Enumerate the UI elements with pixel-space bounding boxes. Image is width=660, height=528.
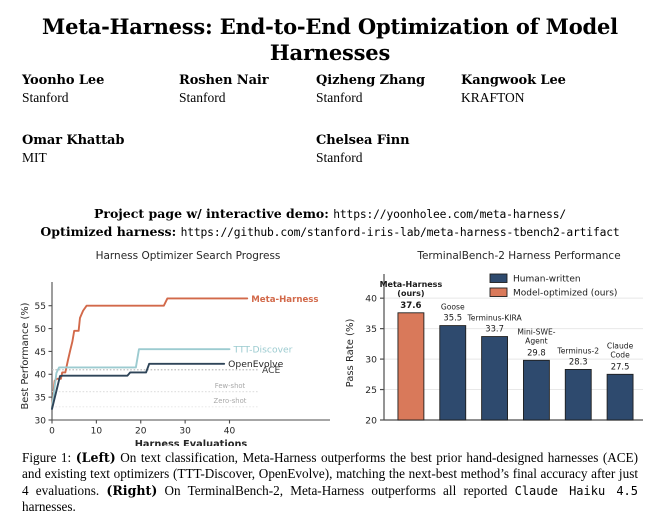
svg-text:Model-optimized (ours): Model-optimized (ours)	[513, 288, 617, 298]
left-chart-title: Harness Optimizer Search Progress	[18, 250, 348, 262]
project-page-separator: :	[324, 206, 333, 221]
author-affiliation: Stanford	[22, 89, 179, 106]
svg-text:10: 10	[91, 427, 103, 437]
svg-text:Pass Rate (%): Pass Rate (%)	[345, 319, 356, 388]
svg-text:33.7: 33.7	[485, 324, 504, 334]
optimized-harness-line: Optimized harness: https://github.com/st…	[0, 223, 660, 241]
author-block-3: Kangwook Lee KRAFTON	[461, 72, 611, 106]
project-page-url[interactable]: https://yoonholee.com/meta-harness/	[333, 208, 566, 221]
svg-text:20: 20	[135, 427, 147, 437]
svg-text:35.5: 35.5	[443, 313, 462, 323]
svg-text:Harness Evaluations: Harness Evaluations	[135, 439, 248, 446]
svg-text:40: 40	[224, 427, 236, 437]
svg-text:Terminus-KIRA: Terminus-KIRA	[466, 314, 522, 323]
svg-text:Goose: Goose	[441, 303, 465, 312]
svg-text:Agent: Agent	[525, 336, 547, 345]
svg-text:Meta-Harness: Meta-Harness	[251, 295, 318, 305]
svg-text:Zero-shot: Zero-shot	[214, 397, 247, 405]
svg-text:Claude: Claude	[607, 341, 634, 350]
author-name: Qizheng Zhang	[316, 72, 461, 89]
terminalbench-2-harness-performance-chart: 2025303540Pass Rate (%)37.6Meta-Harness(…	[338, 264, 656, 446]
svg-text:Meta-Harness: Meta-Harness	[380, 280, 443, 289]
author-name: Kangwook Lee	[461, 72, 611, 89]
svg-text:55: 55	[35, 302, 46, 312]
svg-text:OpenEvolve: OpenEvolve	[228, 359, 283, 370]
svg-text:28.3: 28.3	[569, 356, 588, 366]
svg-text:35: 35	[365, 324, 377, 335]
svg-text:30: 30	[35, 416, 47, 426]
page-title: Meta-Harness: End-to-End Optimization of…	[0, 14, 660, 66]
authors-row-1: Yoonho Lee Stanford Roshen Nair Stanford…	[22, 72, 638, 106]
svg-text:Mini-SWE-: Mini-SWE-	[517, 327, 555, 336]
right-chart-title: TerminalBench-2 Harness Performance	[338, 250, 660, 262]
svg-text:(ours): (ours)	[397, 289, 424, 298]
chart-panel-right: TerminalBench-2 Harness Performance 2025…	[338, 250, 656, 446]
project-page-label: Project page w/ interactive demo	[94, 206, 324, 221]
author-block-5: Chelsea Finn Stanford	[316, 132, 516, 166]
author-name: Omar Khattab	[22, 132, 316, 149]
svg-text:37.6: 37.6	[400, 301, 421, 311]
svg-text:50: 50	[35, 325, 47, 335]
paper-figure-page: Meta-Harness: End-to-End Optimization of…	[0, 0, 660, 528]
harness-optimizer-search-progress-chart: 303540455055010203040Harness Evaluations…	[18, 264, 338, 446]
svg-text:30: 30	[179, 427, 191, 437]
author-affiliation: Stanford	[179, 89, 316, 106]
figure-caption: Figure 1: (Left) On text classification,…	[22, 450, 638, 516]
author-affiliation: Stanford	[316, 149, 516, 166]
author-affiliation: KRAFTON	[461, 89, 611, 106]
svg-text:Human-written: Human-written	[513, 274, 581, 284]
svg-text:TTT-Discover: TTT-Discover	[233, 345, 293, 356]
caption-model-name: Claude Haiku 4.5	[515, 484, 638, 498]
optimized-harness-url[interactable]: https://github.com/stanford-iris-lab/met…	[181, 226, 620, 239]
svg-text:Code: Code	[610, 350, 630, 359]
author-name: Yoonho Lee	[22, 72, 179, 89]
caption-text-2: On TerminalBench-2, Meta-Harness outperf…	[157, 483, 514, 498]
caption-left-tag: (Left)	[76, 450, 116, 465]
svg-text:Best Performance (%): Best Performance (%)	[20, 303, 31, 410]
author-name: Chelsea Finn	[316, 132, 516, 149]
svg-text:40: 40	[35, 371, 47, 381]
optimized-harness-separator: :	[172, 224, 181, 239]
authors-row-2: Omar Khattab MIT Chelsea Finn Stanford	[22, 132, 638, 166]
caption-figure-label: Figure 1:	[22, 450, 71, 465]
optimized-harness-label: Optimized harness	[40, 224, 171, 239]
chart-panel-left: Harness Optimizer Search Progress 303540…	[18, 250, 338, 446]
svg-text:29.8: 29.8	[527, 347, 546, 357]
svg-text:45: 45	[35, 348, 46, 358]
project-links: Project page w/ interactive demo: https:…	[0, 205, 660, 241]
caption-text-3: harnesses.	[22, 499, 76, 514]
author-name: Roshen Nair	[179, 72, 316, 89]
svg-text:Few-shot: Few-shot	[215, 382, 246, 390]
svg-text:0: 0	[49, 427, 55, 437]
figure-1: Harness Optimizer Search Progress 303540…	[0, 250, 660, 446]
svg-text:35: 35	[35, 394, 46, 404]
svg-text:Terminus-2: Terminus-2	[556, 346, 599, 355]
svg-text:27.5: 27.5	[611, 361, 630, 371]
svg-text:40: 40	[365, 294, 377, 305]
author-affiliation: MIT	[22, 149, 316, 166]
svg-text:25: 25	[365, 385, 377, 396]
author-affiliation: Stanford	[316, 89, 461, 106]
svg-text:30: 30	[365, 354, 377, 365]
author-block-1: Roshen Nair Stanford	[179, 72, 316, 106]
author-block-2: Qizheng Zhang Stanford	[316, 72, 461, 106]
author-block-0: Yoonho Lee Stanford	[22, 72, 179, 106]
caption-right-tag: (Right)	[106, 483, 157, 498]
svg-text:20: 20	[365, 415, 377, 426]
author-block-4: Omar Khattab MIT	[22, 132, 316, 166]
project-page-line: Project page w/ interactive demo: https:…	[0, 205, 660, 223]
